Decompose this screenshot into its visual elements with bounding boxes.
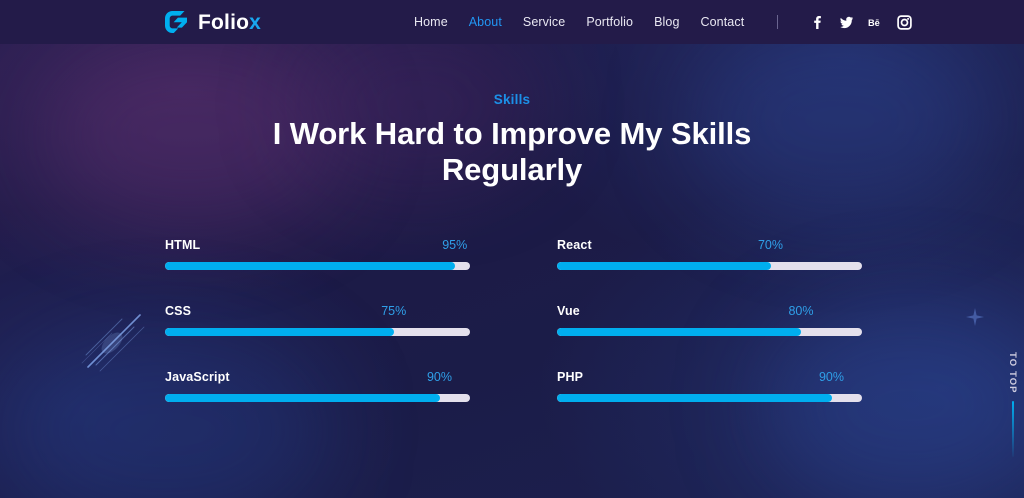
nav-item-blog[interactable]: Blog <box>654 15 679 29</box>
skill-item-javascript: JavaScript 90% <box>165 370 470 402</box>
skill-label: CSS <box>165 304 191 318</box>
skill-label: React <box>557 238 592 252</box>
nav-item-service[interactable]: Service <box>523 15 565 29</box>
skill-percent-label: 70% <box>758 238 783 252</box>
sparkle-icon <box>966 308 984 326</box>
skill-item-php: PHP 90% <box>557 370 862 402</box>
comet-streak-icon <box>78 305 150 377</box>
skill-item-css: CSS 75% <box>165 304 470 336</box>
main-navigation: Home About Service Portfolio Blog Contac… <box>414 15 912 30</box>
skill-progress-track <box>557 328 862 336</box>
skill-progress-fill <box>557 394 832 402</box>
skill-progress-fill <box>165 394 440 402</box>
twitter-icon[interactable] <box>839 15 854 30</box>
svg-text:Bē: Bē <box>868 18 880 28</box>
foliox-logo-icon <box>163 9 189 35</box>
social-links: Bē <box>810 15 912 30</box>
skill-progress-fill <box>165 262 455 270</box>
skill-progress-track <box>557 394 862 402</box>
nav-item-about[interactable]: About <box>469 15 502 29</box>
page-background: Foliox Home About Service Portfolio Blog… <box>0 0 1024 498</box>
skill-percent-label: 80% <box>788 304 813 318</box>
back-to-top-button[interactable]: TO TOP <box>1007 352 1018 457</box>
nav-item-home[interactable]: Home <box>414 15 448 29</box>
skill-progress-track <box>557 262 862 270</box>
skill-item-react: React 70% <box>557 238 862 270</box>
section-heading: Skills I Work Hard to Improve My Skills … <box>0 92 1024 189</box>
skill-percent-label: 75% <box>381 304 406 318</box>
back-to-top-label: TO TOP <box>1007 352 1018 394</box>
skill-percent-label: 90% <box>819 370 844 384</box>
brand-name-main: Folio <box>198 11 249 34</box>
skill-label: HTML <box>165 238 200 252</box>
skill-label: PHP <box>557 370 583 384</box>
facebook-icon[interactable] <box>810 15 825 30</box>
nav-divider <box>777 15 778 29</box>
section-subtitle: Skills <box>0 92 1024 107</box>
skill-header: JavaScript 90% <box>165 370 470 387</box>
skill-label: Vue <box>557 304 580 318</box>
brand-name-accent: x <box>249 11 261 34</box>
brand-name: Foliox <box>198 12 261 33</box>
skill-percent-label: 90% <box>427 370 452 384</box>
skill-item-vue: Vue 80% <box>557 304 862 336</box>
nav-item-contact[interactable]: Contact <box>701 15 745 29</box>
skill-label: JavaScript <box>165 370 230 384</box>
skill-percent-label: 95% <box>442 238 467 252</box>
skill-item-html: HTML 95% <box>165 238 470 270</box>
skill-header: HTML 95% <box>165 238 470 255</box>
skill-progress-track <box>165 394 470 402</box>
skill-progress-fill <box>165 328 394 336</box>
skill-progress-track <box>165 328 470 336</box>
skill-header: PHP 90% <box>557 370 862 387</box>
skill-progress-track <box>165 262 470 270</box>
skill-progress-fill <box>557 328 801 336</box>
skill-header: Vue 80% <box>557 304 862 321</box>
skill-header: CSS 75% <box>165 304 470 321</box>
brand-logo[interactable]: Foliox <box>163 9 261 35</box>
instagram-icon[interactable] <box>897 15 912 30</box>
nav-item-portfolio[interactable]: Portfolio <box>586 15 633 29</box>
skill-progress-fill <box>557 262 771 270</box>
site-header: Foliox Home About Service Portfolio Blog… <box>0 0 1024 44</box>
behance-icon[interactable]: Bē <box>868 15 883 30</box>
skills-grid: HTML 95% React 70% CSS 75% <box>165 238 862 402</box>
page-title: I Work Hard to Improve My Skills Regular… <box>252 116 772 189</box>
back-to-top-line <box>1012 401 1014 457</box>
skill-header: React 70% <box>557 238 862 255</box>
